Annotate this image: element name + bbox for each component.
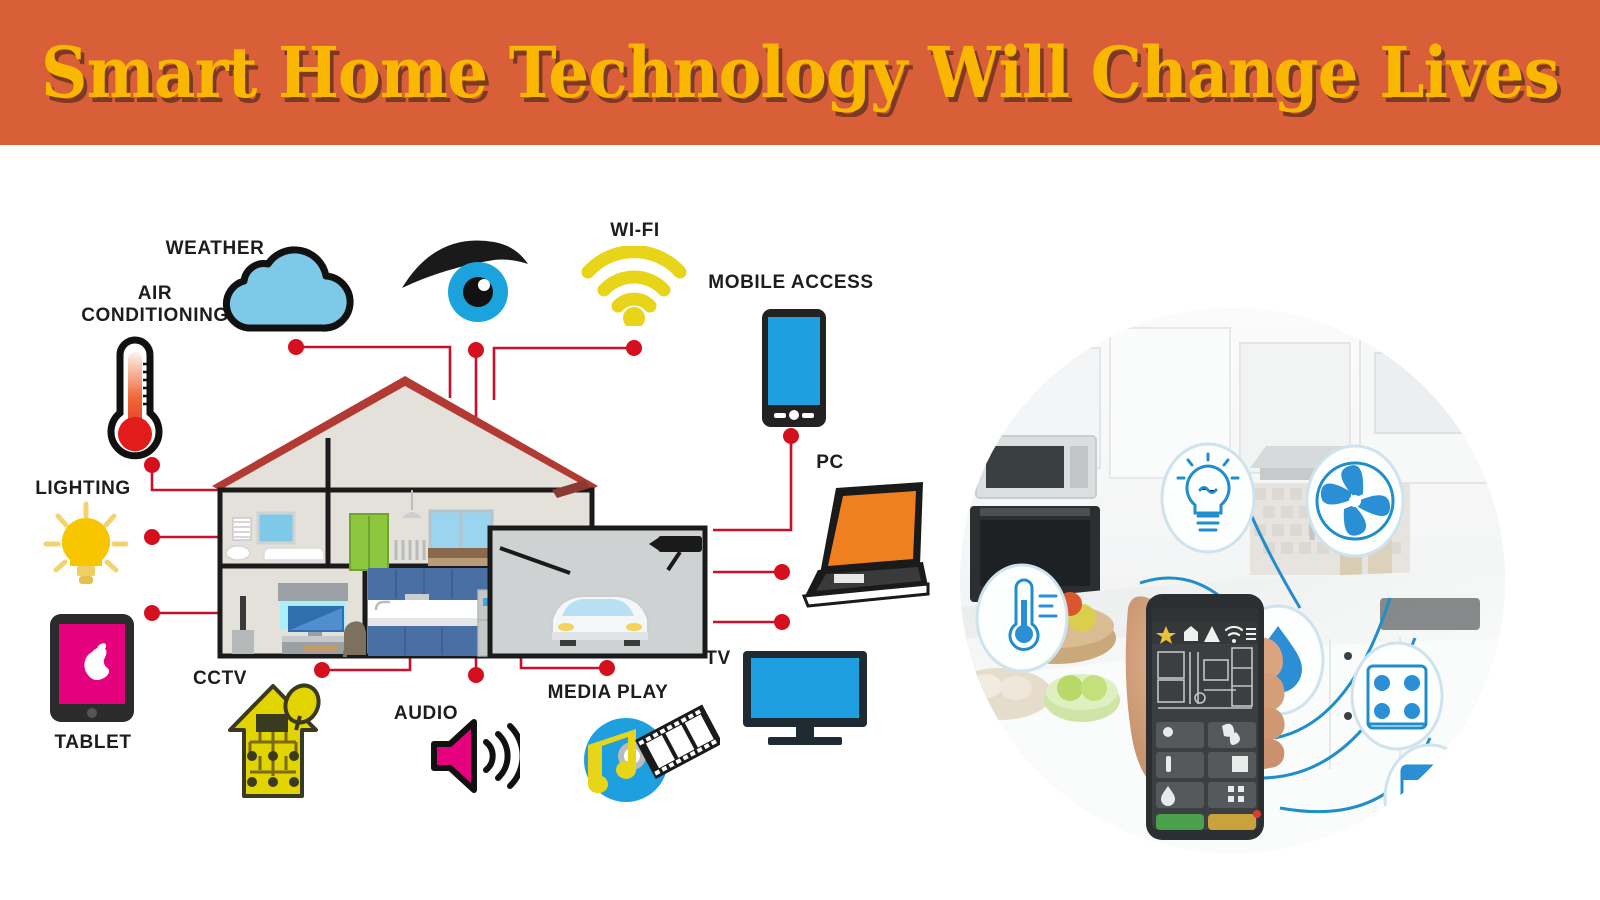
speaker-icon[interactable] xyxy=(428,714,520,798)
node-label-tablet: TABLET xyxy=(38,732,148,754)
floating-bulb-icon xyxy=(1162,444,1254,552)
floating-dishwasher-icon xyxy=(1385,745,1475,851)
smart-kitchen-photo xyxy=(960,308,1505,853)
node-label-lighting: LIGHTING xyxy=(18,478,148,500)
floating-stove-icon xyxy=(1352,643,1442,749)
node-label-wifi: WI-FI xyxy=(570,220,700,242)
floating-thermometer-icon xyxy=(977,565,1067,671)
page-header-banner: Smart Home Technology Will Change Lives xyxy=(0,0,1600,145)
thermometer-icon[interactable] xyxy=(96,334,174,462)
tablet-icon[interactable] xyxy=(48,612,136,724)
eye-icon[interactable] xyxy=(396,230,532,338)
node-label-tv: TV xyxy=(690,648,746,670)
house-cutaway-illustration xyxy=(200,368,745,660)
media-disc-icon[interactable] xyxy=(570,700,720,804)
laptop-icon[interactable] xyxy=(790,478,930,608)
phone-reports-button xyxy=(1208,814,1256,830)
page-title: Smart Home Technology Will Change Lives xyxy=(41,38,1559,108)
smartphone-icon[interactable] xyxy=(760,307,828,429)
node-label-mobile-access: MOBILE ACCESS xyxy=(700,272,882,294)
kitchen-scene xyxy=(960,308,1505,853)
phone-eco-mode-button xyxy=(1156,814,1204,830)
cctv-house-icon[interactable] xyxy=(216,676,330,800)
television-icon[interactable] xyxy=(740,648,870,748)
lightbulb-icon[interactable] xyxy=(38,500,134,592)
floating-fan-icon xyxy=(1307,446,1403,556)
wifi-icon[interactable] xyxy=(578,246,690,326)
node-label-pc: PC xyxy=(800,452,860,474)
cloud-icon[interactable] xyxy=(214,246,362,338)
